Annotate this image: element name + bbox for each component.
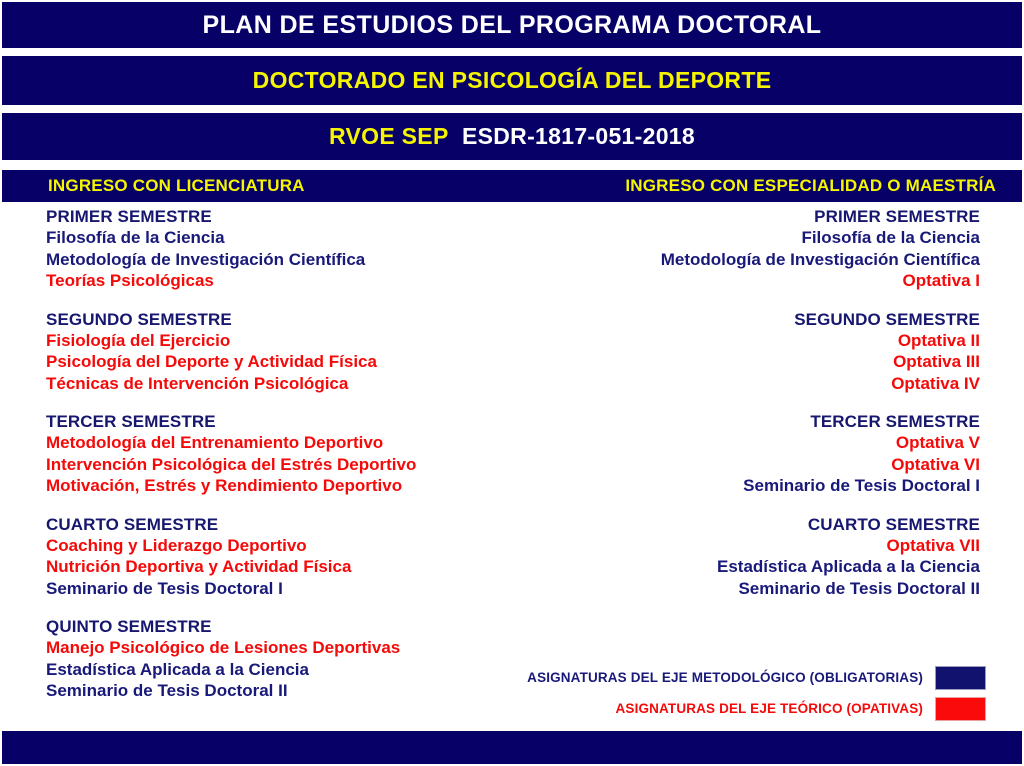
- semester-title: CUARTO SEMESTRE: [46, 514, 526, 535]
- curriculum-column-licenciatura: PRIMER SEMESTREFilosofía de la CienciaMe…: [46, 206, 526, 702]
- course-item: Seminario de Tesis Doctoral II: [520, 578, 980, 600]
- course-item: Seminario de Tesis Doctoral II: [46, 680, 526, 702]
- rvoe-line: RVOE SEP ESDR-1817-051-2018: [329, 123, 695, 150]
- course-item: Filosofía de la Ciencia: [46, 227, 526, 249]
- course-item: Optativa VI: [520, 454, 980, 476]
- semester-block: PRIMER SEMESTREFilosofía de la CienciaMe…: [520, 206, 980, 292]
- legend-color-swatch: [935, 697, 986, 721]
- footer-band: [2, 731, 1022, 764]
- course-item: Optativa VII: [520, 535, 980, 557]
- column-heading-right: INGRESO CON ESPECIALIDAD O MAESTRÍA: [625, 170, 996, 202]
- semester-block: CUARTO SEMESTREOptativa VIIEstadística A…: [520, 514, 980, 600]
- course-item: Intervención Psicológica del Estrés Depo…: [46, 454, 526, 476]
- rvoe-code-value: ESDR-1817-051-2018: [462, 123, 695, 149]
- course-item: Metodología del Entrenamiento Deportivo: [46, 432, 526, 454]
- course-item: Seminario de Tesis Doctoral I: [46, 578, 526, 600]
- course-item: Seminario de Tesis Doctoral I: [520, 475, 980, 497]
- semester-title: PRIMER SEMESTRE: [520, 206, 980, 227]
- page-title: PLAN DE ESTUDIOS DEL PROGRAMA DOCTORAL: [203, 11, 822, 40]
- semester-title: TERCER SEMESTRE: [520, 411, 980, 432]
- semester-block: TERCER SEMESTREOptativa VOptativa VISemi…: [520, 411, 980, 497]
- title-band-rvoe: RVOE SEP ESDR-1817-051-2018: [2, 113, 1022, 160]
- course-item: Optativa II: [520, 330, 980, 352]
- semester-block: SEGUNDO SEMESTREFisiología del Ejercicio…: [46, 309, 526, 395]
- course-item: Optativa I: [520, 270, 980, 292]
- legend-row: ASIGNATURAS DEL EJE TEÓRICO (OPATIVAS): [466, 695, 986, 722]
- rvoe-label: RVOE SEP: [329, 123, 449, 149]
- curriculum-columns: PRIMER SEMESTREFilosofía de la CienciaMe…: [0, 206, 1024, 656]
- semester-title: SEGUNDO SEMESTRE: [46, 309, 526, 330]
- course-item: Estadística Aplicada a la Ciencia: [520, 556, 980, 578]
- program-name: DOCTORADO EN PSICOLOGÍA DEL DEPORTE: [253, 67, 772, 94]
- semester-title: PRIMER SEMESTRE: [46, 206, 526, 227]
- column-heading-left: INGRESO CON LICENCIATURA: [48, 170, 305, 202]
- course-item: Técnicas de Intervención Psicológica: [46, 373, 526, 395]
- course-item: Optativa V: [520, 432, 980, 454]
- course-item: Metodología de Investigación Científica: [46, 249, 526, 271]
- semester-title: QUINTO SEMESTRE: [46, 616, 526, 637]
- legend-row: ASIGNATURAS DEL EJE METODOLÓGICO (OBLIGA…: [466, 664, 986, 691]
- rvoe-code: [449, 123, 462, 149]
- course-item: Nutrición Deportiva y Actividad Física: [46, 556, 526, 578]
- course-item: Psicología del Deporte y Actividad Físic…: [46, 351, 526, 373]
- legend-label: ASIGNATURAS DEL EJE TEÓRICO (OPATIVAS): [616, 701, 923, 716]
- semester-block: QUINTO SEMESTREManejo Psicológico de Les…: [46, 616, 526, 702]
- course-item: Filosofía de la Ciencia: [520, 227, 980, 249]
- course-item: Metodología de Investigación Científica: [520, 249, 980, 271]
- course-item: Optativa III: [520, 351, 980, 373]
- legend-color-swatch: [935, 666, 986, 690]
- course-item: Fisiología del Ejercicio: [46, 330, 526, 352]
- course-item: Optativa IV: [520, 373, 980, 395]
- title-band-program: DOCTORADO EN PSICOLOGÍA DEL DEPORTE: [2, 56, 1022, 105]
- legend-label: ASIGNATURAS DEL EJE METODOLÓGICO (OBLIGA…: [527, 670, 923, 685]
- semester-block: PRIMER SEMESTREFilosofía de la CienciaMe…: [46, 206, 526, 292]
- column-headings-band: INGRESO CON LICENCIATURA INGRESO CON ESP…: [2, 170, 1022, 202]
- semester-block: SEGUNDO SEMESTREOptativa IIOptativa IIIO…: [520, 309, 980, 395]
- semester-block: TERCER SEMESTREMetodología del Entrenami…: [46, 411, 526, 497]
- course-item: Motivación, Estrés y Rendimiento Deporti…: [46, 475, 526, 497]
- legend: ASIGNATURAS DEL EJE METODOLÓGICO (OBLIGA…: [466, 664, 986, 726]
- title-band-main: PLAN DE ESTUDIOS DEL PROGRAMA DOCTORAL: [2, 2, 1022, 48]
- semester-block: CUARTO SEMESTRECoaching y Liderazgo Depo…: [46, 514, 526, 600]
- course-item: Coaching y Liderazgo Deportivo: [46, 535, 526, 557]
- course-item: Teorías Psicológicas: [46, 270, 526, 292]
- semester-title: CUARTO SEMESTRE: [520, 514, 980, 535]
- course-item: Estadística Aplicada a la Ciencia: [46, 659, 526, 681]
- curriculum-column-maestria: PRIMER SEMESTREFilosofía de la CienciaMe…: [520, 206, 980, 599]
- semester-title: SEGUNDO SEMESTRE: [520, 309, 980, 330]
- semester-title: TERCER SEMESTRE: [46, 411, 526, 432]
- course-item: Manejo Psicológico de Lesiones Deportiva…: [46, 637, 526, 659]
